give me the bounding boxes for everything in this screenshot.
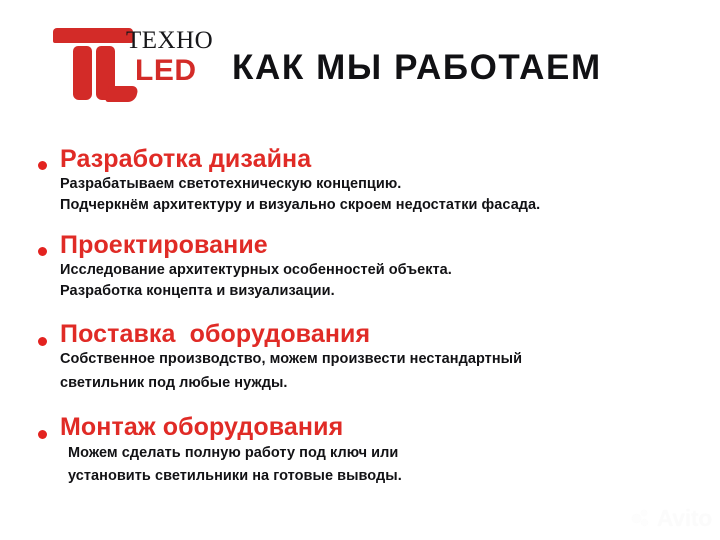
monogram-stem-left [73,46,92,100]
brand-name-led: LED [135,56,197,86]
list-item: Монтаж оборудования Можем сделать полную… [0,414,720,488]
step-description: Собственное производство, можем произвес… [60,348,720,395]
step-line: Разрабатываем светотехническую концепцию… [60,174,720,195]
avito-watermark: Avito [632,507,712,530]
page-title: КАК МЫ РАБОТАЕМ [232,50,602,85]
bullet-icon [38,430,47,439]
step-description: Разрабатываем светотехническую концепцию… [60,174,720,217]
step-description: Исследование архитектурных особенностей … [60,260,720,303]
brand-wordmark: ТЕХНО LED [126,28,208,100]
step-line: Подчеркнём архитектуру и визуально скрое… [60,195,720,216]
step-line: Собственное производство, можем произвес… [60,348,720,371]
step-description: Можем сделать полную работу под ключ или… [68,442,720,489]
list-item: Проектирование Исследование архитектурны… [0,232,720,302]
bullet-icon [38,247,47,256]
bullet-icon [38,337,47,346]
header: ТЕХНО LED КАК МЫ РАБОТАЕМ [0,0,720,128]
step-title: Проектирование [60,232,720,259]
step-line: Исследование архитектурных особенностей … [60,260,720,281]
step-line: Можем сделать полную работу под ключ или [68,442,720,465]
bullet-icon [38,161,47,170]
brand-logo: ТЕХНО LED [52,24,204,102]
step-title: Разработка дизайна [60,146,720,173]
step-title: Поставка оборудования [60,321,720,348]
step-line: светильник под любые нужды. [60,372,720,395]
list-item: Поставка оборудования Собственное произв… [0,321,720,395]
monogram-bar [53,28,133,43]
step-line: установить светильники на готовые выводы… [68,465,720,488]
steps-list: Разработка дизайна Разрабатываем светоте… [0,146,720,489]
avito-watermark-label: Avito [657,507,712,530]
list-item: Разработка дизайна Разрабатываем светоте… [0,146,720,216]
brand-name-tehno: ТЕХНО [126,28,213,53]
step-line: Разработка концепта и визуализации. [60,281,720,302]
avito-circles-icon [632,508,654,530]
step-title: Монтаж оборудования [60,414,720,441]
